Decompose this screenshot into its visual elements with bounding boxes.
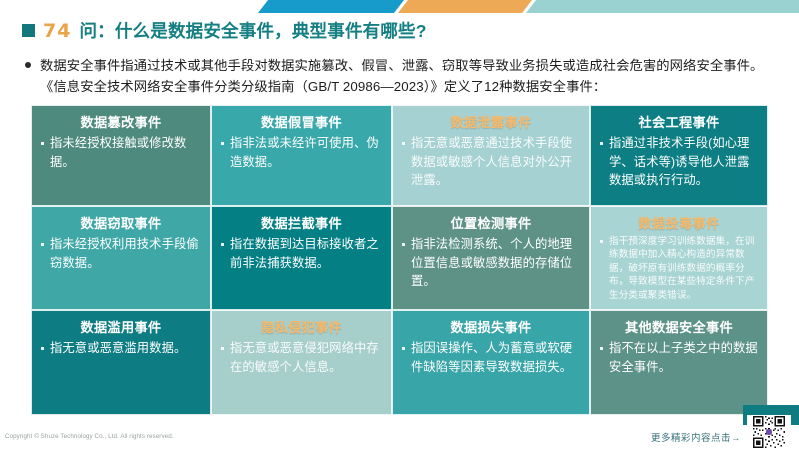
- card-bullet-icon: [221, 142, 224, 145]
- card-2[interactable]: 数据泄露事件 指无意或恶意通过技术手段使数据或敏感个人信息对外公开泄露。: [392, 105, 590, 206]
- card-title: 数据泄露事件: [402, 115, 580, 131]
- card-bullet-icon: [41, 243, 44, 246]
- qr-code[interactable]: [747, 415, 791, 449]
- card-0[interactable]: 数据篡改事件 指未经授权接触或修改数据。: [31, 105, 211, 206]
- page-title: 问：什么是数据安全事件，典型事件有哪些?: [79, 18, 426, 43]
- card-5[interactable]: 数据拦截事件 指在数据到达目标接收者之前非法捕获数据。: [211, 206, 392, 310]
- card-description: 指未经授权接触或修改数据。: [50, 134, 201, 171]
- card-bullet-icon: [600, 240, 603, 243]
- top-decoration: [0, 0, 799, 13]
- cta-text: 更多精彩内容点击→: [651, 430, 741, 444]
- card-title: 其他数据安全事件: [600, 320, 758, 336]
- header-number: 74: [43, 20, 71, 42]
- top-bar-orange: [398, 0, 532, 13]
- card-title: 隐私侵犯事件: [221, 320, 382, 336]
- card-title: 社会工程事件: [600, 115, 758, 131]
- card-11[interactable]: 其他数据安全事件 指不在以上子类之中的数据安全事件。: [590, 310, 768, 415]
- card-7[interactable]: 数据投毒事件 指干预深度学习训练数据集，在训练数据中加入精心构造的异常数据，破坏…: [590, 206, 768, 310]
- event-type-grid: 数据篡改事件 指未经授权接触或修改数据。 数据假冒事件 指非法或未经许可使用、伪…: [31, 105, 768, 415]
- card-description: 指未经授权利用技术手段偷窃数据。: [50, 235, 201, 272]
- card-description: 指通过非技术手段(如心理学、话术等)诱导他人泄露数据或执行行动。: [609, 134, 758, 190]
- bullet-dot-icon: [25, 62, 31, 68]
- card-title: 数据投毒事件: [600, 216, 758, 232]
- card-8[interactable]: 数据滥用事件 指无意或恶意滥用数据。: [31, 310, 211, 415]
- card-bullet-icon: [41, 347, 44, 350]
- card-bullet-icon: [402, 243, 405, 246]
- slide-root: 74 问：什么是数据安全事件，典型事件有哪些? 数据安全事件指通过技术或其他手段…: [0, 0, 799, 450]
- card-bullet-icon: [600, 347, 603, 350]
- card-bullet-icon: [221, 243, 224, 246]
- header-square-icon: [22, 24, 35, 37]
- card-description: 指在数据到达目标接收者之前非法捕获数据。: [230, 235, 382, 272]
- card-bullet-icon: [402, 347, 405, 350]
- card-1[interactable]: 数据假冒事件 指非法或未经许可使用、伪造数据。: [211, 105, 392, 206]
- card-3[interactable]: 社会工程事件 指通过非技术手段(如心理学、话术等)诱导他人泄露数据或执行行动。: [590, 105, 768, 206]
- card-description: 指无意或恶意滥用数据。: [50, 339, 186, 358]
- card-description: 指因误操作、人为蓄意或软硬件缺陷等因素导致数据损失。: [411, 339, 580, 376]
- card-bullet-icon: [221, 347, 224, 350]
- card-title: 数据拦截事件: [221, 216, 382, 232]
- card-title: 数据篡改事件: [41, 115, 201, 131]
- card-title: 数据假冒事件: [221, 115, 382, 131]
- copyright-text: Copyright © Shuze Technology Co., Ltd. A…: [5, 433, 174, 440]
- top-bar-blue: [258, 0, 404, 13]
- card-bullet-icon: [600, 142, 603, 145]
- card-title: 位置检测事件: [402, 216, 580, 232]
- card-title: 数据滥用事件: [41, 320, 201, 336]
- card-description: 指非法检测系统、个人的地理位置信息或敏感数据的存储位置。: [411, 235, 580, 291]
- card-description: 指干预深度学习训练数据集，在训练数据中加入精心构造的异常数据，破坏原有训练数据的…: [609, 235, 758, 302]
- slide-header: 74 问：什么是数据安全事件，典型事件有哪些?: [22, 18, 427, 43]
- intro-text: 数据安全事件指通过技术或其他手段对数据实施篡改、假冒、泄露、窃取等导致业务损失或…: [40, 55, 777, 97]
- card-title: 数据窃取事件: [41, 216, 201, 232]
- card-10[interactable]: 数据损失事件 指因误操作、人为蓄意或软硬件缺陷等因素导致数据损失。: [392, 310, 590, 415]
- card-description: 指无意或恶意通过技术手段使数据或敏感个人信息对外公开泄露。: [411, 134, 580, 190]
- card-9[interactable]: 隐私侵犯事件 指无意或恶意侵犯网络中存在的敏感个人信息。: [211, 310, 392, 415]
- card-description: 指无意或恶意侵犯网络中存在的敏感个人信息。: [230, 339, 382, 376]
- card-description: 指非法或未经许可使用、伪造数据。: [230, 134, 382, 171]
- card-bullet-icon: [402, 142, 405, 145]
- card-4[interactable]: 数据窃取事件 指未经授权利用技术手段偷窃数据。: [31, 206, 211, 310]
- intro-paragraph: 数据安全事件指通过技术或其他手段对数据实施篡改、假冒、泄露、窃取等导致业务损失或…: [25, 55, 777, 97]
- top-bar-light-teal: [526, 0, 799, 13]
- qr-code-icon: [748, 416, 790, 448]
- card-bullet-icon: [41, 142, 44, 145]
- card-6[interactable]: 位置检测事件 指非法检测系统、个人的地理位置信息或敏感数据的存储位置。: [392, 206, 590, 310]
- card-description: 指不在以上子类之中的数据安全事件。: [609, 339, 758, 376]
- card-title: 数据损失事件: [402, 320, 580, 336]
